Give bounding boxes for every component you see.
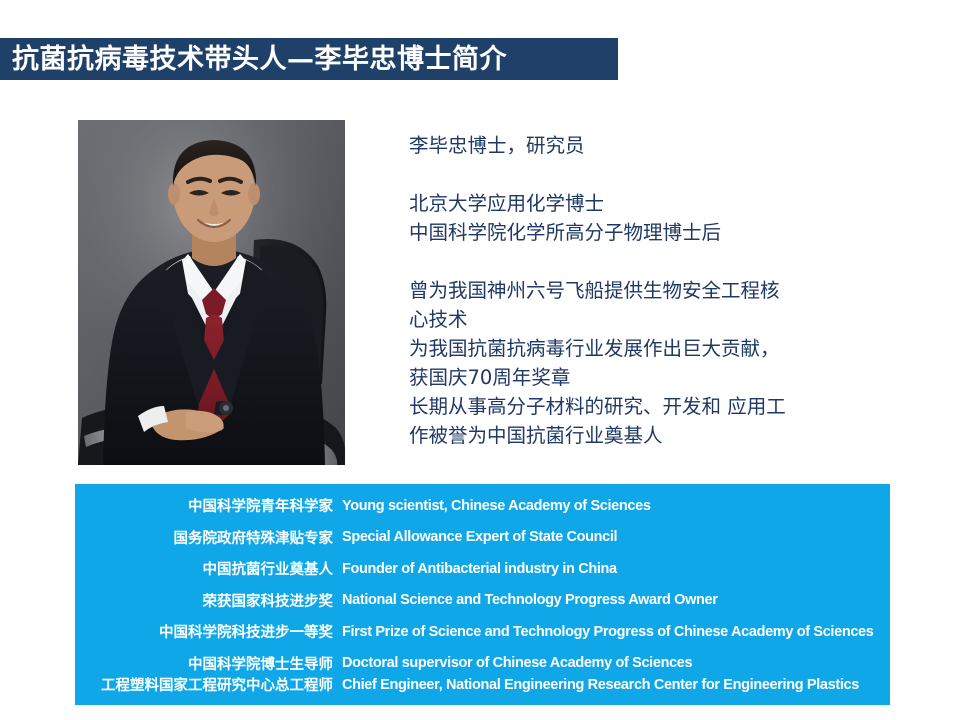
bio-spacer-4 bbox=[409, 247, 909, 276]
biography-text: 李毕忠博士，研究员 北京大学应用化学博士 中国科学院化学所高分子物理博士后 曾为… bbox=[409, 131, 909, 450]
bio-line-8: 获国庆70周年奖章 bbox=[409, 363, 909, 392]
award-label-cn: 荣获国家科技进步奖 bbox=[75, 590, 342, 611]
award-label-cn: 中国科学院青年科学家 bbox=[75, 495, 342, 516]
bio-spacer-1 bbox=[409, 160, 909, 189]
award-label-cn: 国务院政府特殊津贴专家 bbox=[75, 527, 342, 548]
bio-line-7: 为我国抗菌抗病毒行业发展作出巨大贡献， bbox=[409, 334, 909, 363]
awards-panel: 中国科学院青年科学家 Young scientist, Chinese Acad… bbox=[75, 484, 890, 705]
award-row: 荣获国家科技进步奖 National Science and Technolog… bbox=[75, 585, 890, 617]
award-label-en: Special Allowance Expert of State Counci… bbox=[342, 529, 890, 545]
bio-line-2: 北京大学应用化学博士 bbox=[409, 189, 909, 218]
bio-line-3: 中国科学院化学所高分子物理博士后 bbox=[409, 218, 909, 247]
portrait-image bbox=[78, 120, 345, 465]
portrait-photo bbox=[78, 120, 345, 465]
award-label-en: Chief Engineer, National Engineering Res… bbox=[342, 677, 890, 693]
award-label-en: Founder of Antibacterial industry in Chi… bbox=[342, 561, 890, 577]
award-label-en: Young scientist, Chinese Academy of Scie… bbox=[342, 498, 890, 514]
award-label-en: First Prize of Science and Technology Pr… bbox=[342, 624, 890, 640]
award-row: 中国科学院科技进步一等奖 First Prize of Science and … bbox=[75, 616, 890, 648]
award-label-cn: 工程塑料国家工程研究中心总工程师 bbox=[75, 674, 342, 695]
bio-line-9: 长期从事高分子材料的研究、开发和 应用工 bbox=[409, 392, 909, 421]
bio-line-10: 作被誉为中国抗菌行业奠基人 bbox=[409, 421, 909, 450]
award-row: 中国科学院青年科学家 Young scientist, Chinese Acad… bbox=[75, 490, 890, 522]
bio-line-0: 李毕忠博士，研究员 bbox=[409, 131, 909, 160]
award-label-cn: 中国抗菌行业奠基人 bbox=[75, 558, 342, 579]
award-label-cn: 中国科学院科技进步一等奖 bbox=[75, 621, 342, 642]
slide-title-bar: 抗菌抗病毒技术带头人—李毕忠博士简介 bbox=[0, 38, 618, 80]
award-label-en: National Science and Technology Progress… bbox=[342, 592, 890, 608]
award-row: 国务院政府特殊津贴专家 Special Allowance Expert of … bbox=[75, 522, 890, 554]
award-row: 工程塑料国家工程研究中心总工程师 Chief Engineer, Nationa… bbox=[75, 669, 890, 701]
award-row: 中国抗菌行业奠基人 Founder of Antibacterial indus… bbox=[75, 553, 890, 585]
bio-line-5: 曾为我国神州六号飞船提供生物安全工程核 bbox=[409, 276, 909, 305]
page-title: 抗菌抗病毒技术带头人—李毕忠博士简介 bbox=[0, 46, 507, 73]
bio-line-6: 心技术 bbox=[409, 305, 909, 334]
slide-canvas: 抗菌抗病毒技术带头人—李毕忠博士简介 bbox=[0, 0, 960, 720]
